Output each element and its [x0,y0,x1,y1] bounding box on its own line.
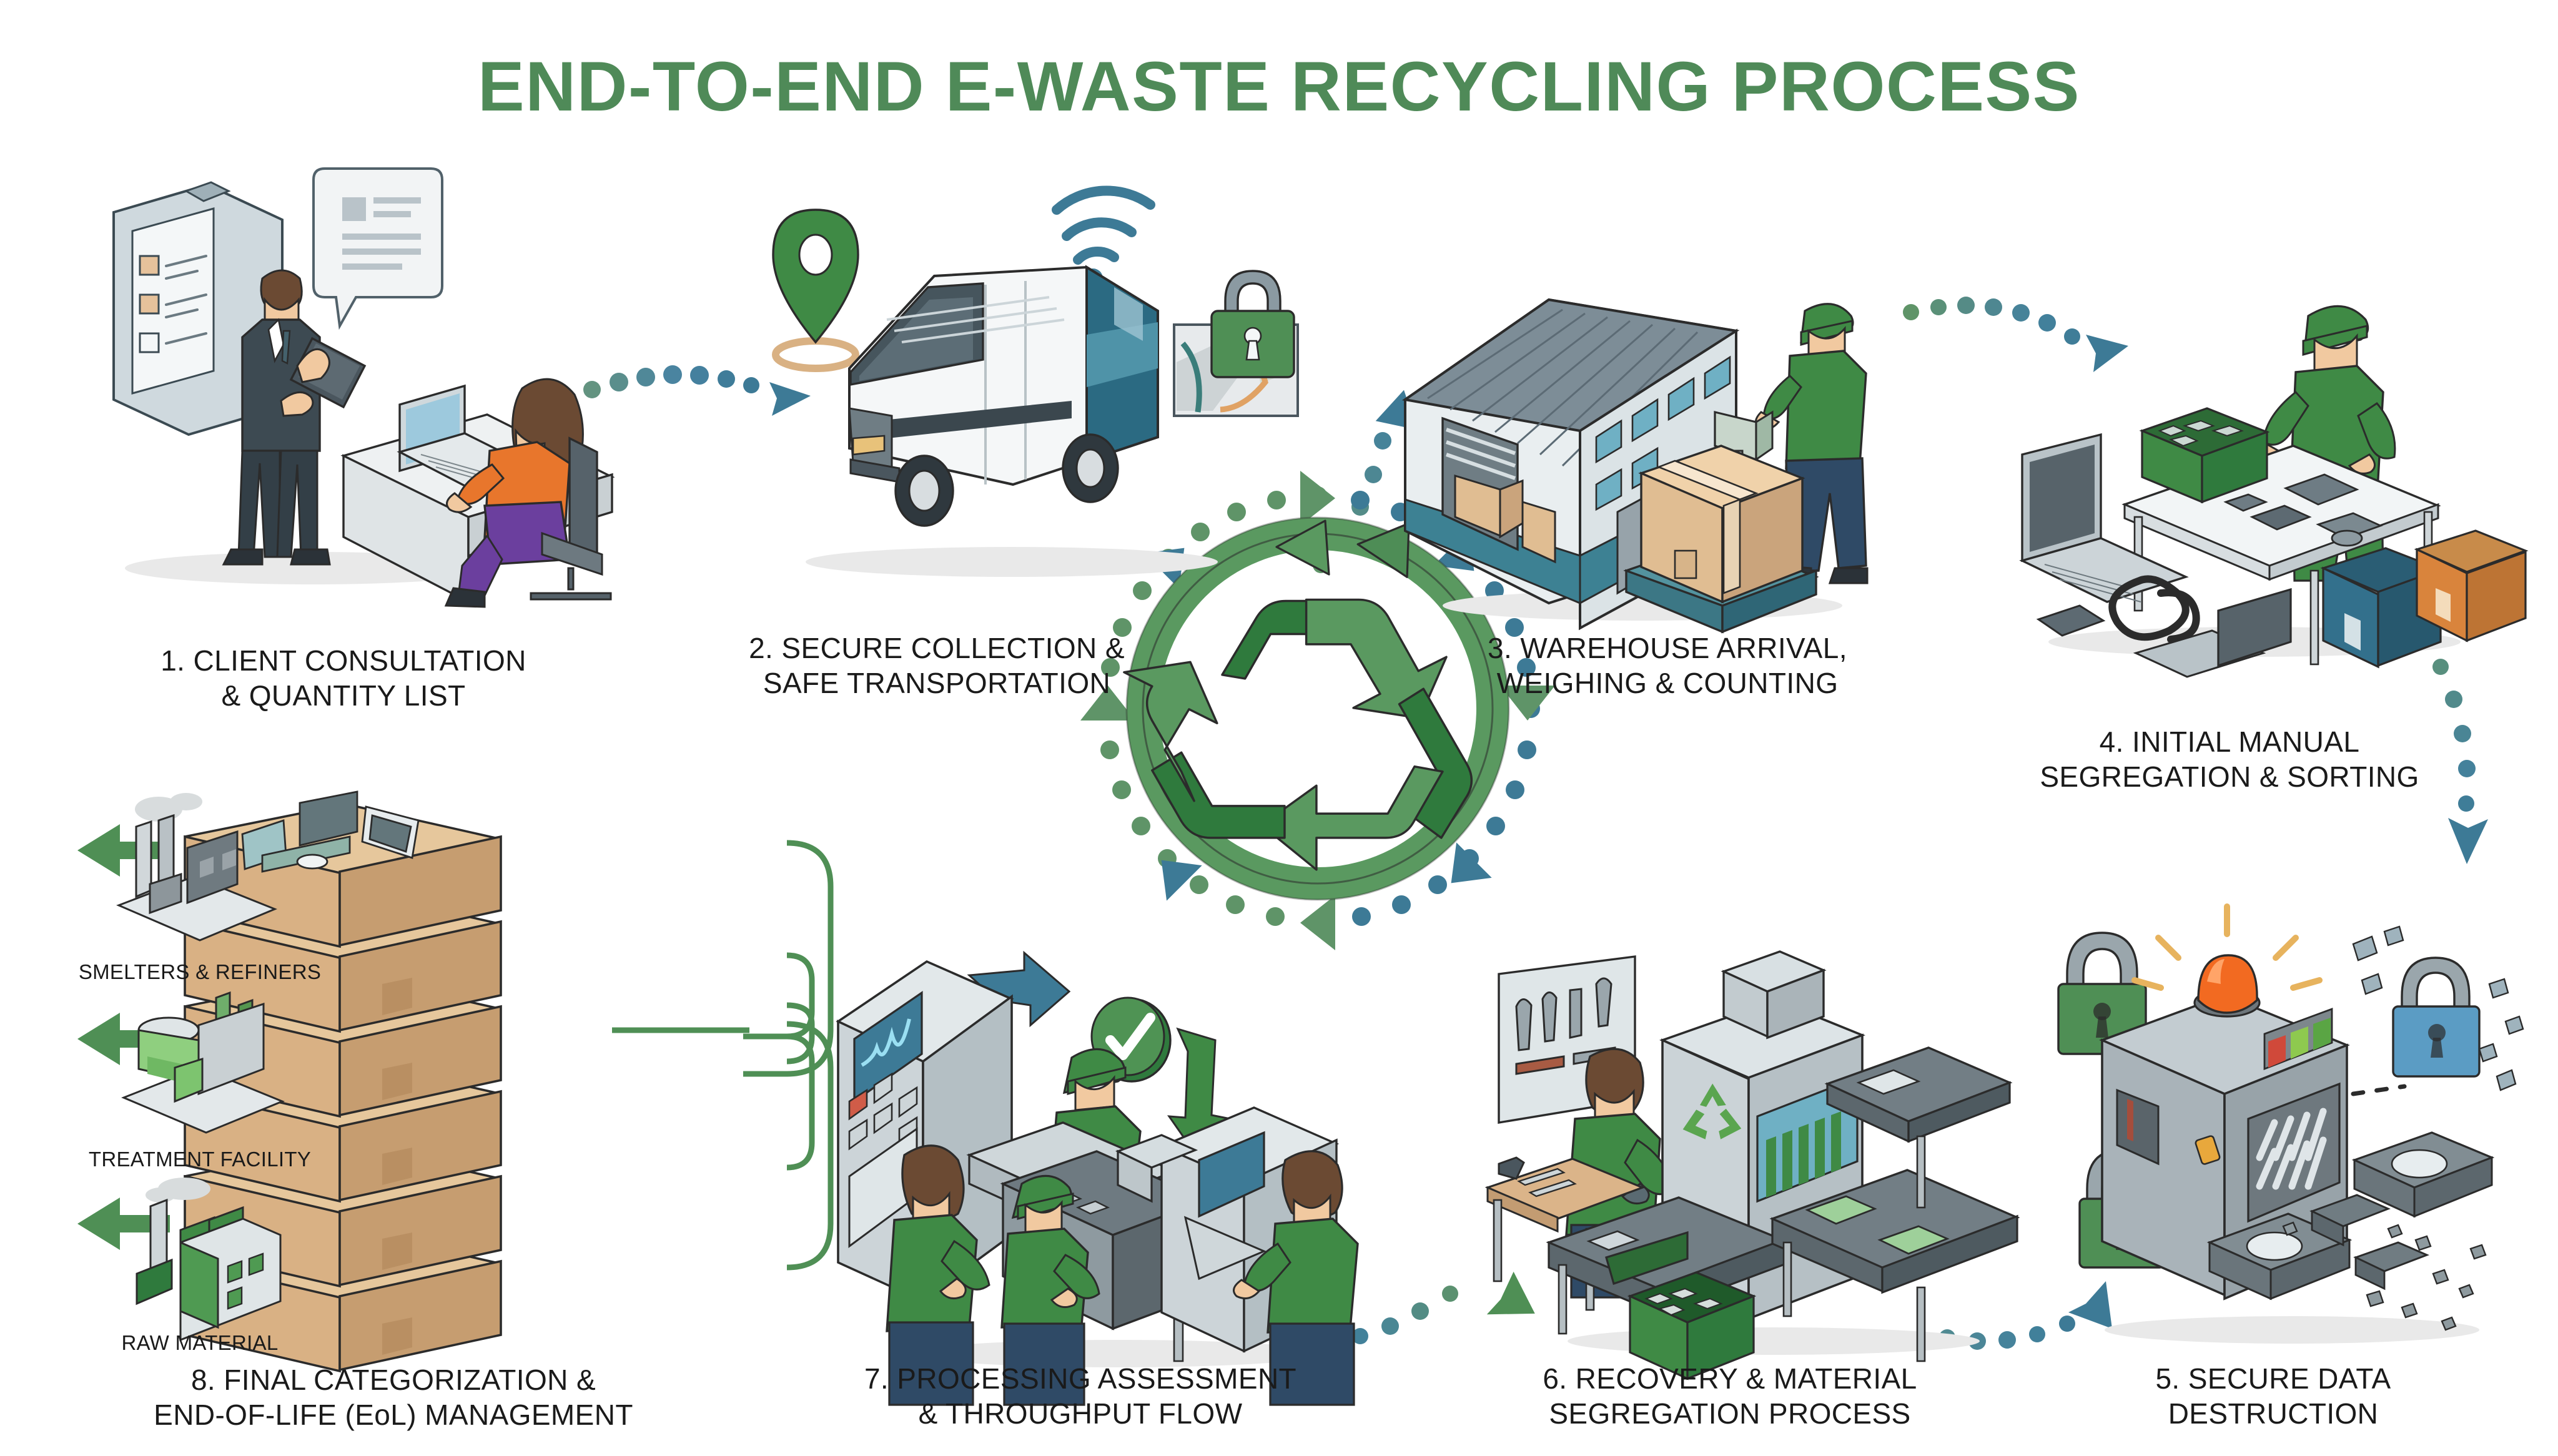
step-7-caption: 7. PROCESSING ASSESSMENT & THROUGHPUT FL… [799,1361,1361,1431]
map-pin-icon [773,210,858,368]
smelter-plant-icon [106,793,294,930]
secure-data-destruction-scene [2042,893,2558,1355]
distribution-lines [612,843,831,1267]
step-8-caption: 8. FINAL CATEGORIZATION & END-OF-LIFE (E… [62,1362,724,1432]
step-2-caption: 2. SECURE COLLECTION & SAFE TRANSPORTATI… [662,631,1212,701]
destination-label-smelters: SMELTERS & REFINERS [56,960,343,984]
step-6-caption: 6. RECOVERY & MATERIAL SEGREGATION PROCE… [1449,1361,2011,1431]
manual-segregation-scene [1961,256,2548,668]
step-5-caption: 5. SECURE DATA DESTRUCTION [2042,1361,2504,1431]
step-3-caption: 3. WAREHOUSE ARRIVAL, WEIGHING & COUNTIN… [1393,631,1942,701]
tablet-device [2038,606,2103,636]
infographic-canvas: END-TO-END E-WASTE RECYCLING PROCESS [0,0,2558,1456]
orange-bin [2417,531,2526,641]
destination-label-treatment: TREATMENT FACILITY [56,1148,343,1171]
client-consultation-scene [75,156,612,606]
warehouse-arrival-scene [1368,231,1955,631]
cardboard-box [1641,446,1802,602]
secure-collection-scene [737,156,1324,593]
blue-padlock-icon [2393,958,2479,1076]
padlock-icon [1212,271,1294,377]
cargo-van [849,267,1158,526]
drive-module [2356,1242,2427,1289]
processing-assessment-scene [824,949,1411,1374]
step-1-caption: 1. CLIENT CONSULTATION & QUANTITY LIST [69,643,618,713]
alert-beacon [2135,907,2319,1016]
data-flow-dashes [2353,1086,2404,1094]
van-wheel [896,456,953,526]
raw-material-plant-icon [116,1174,303,1317]
treatment-facility-icon [112,986,300,1124]
speech-bubble [314,169,442,326]
client-woman [446,379,611,607]
step-4-caption: 4. INITIAL MANUAL SEGREGATION & SORTING [1955,724,2504,794]
van-wheel [1063,435,1118,502]
recovery-segregation-scene [1480,949,2067,1361]
destination-label-raw-material: RAW MATERIAL [56,1331,343,1355]
smoke-puff [146,1178,210,1203]
